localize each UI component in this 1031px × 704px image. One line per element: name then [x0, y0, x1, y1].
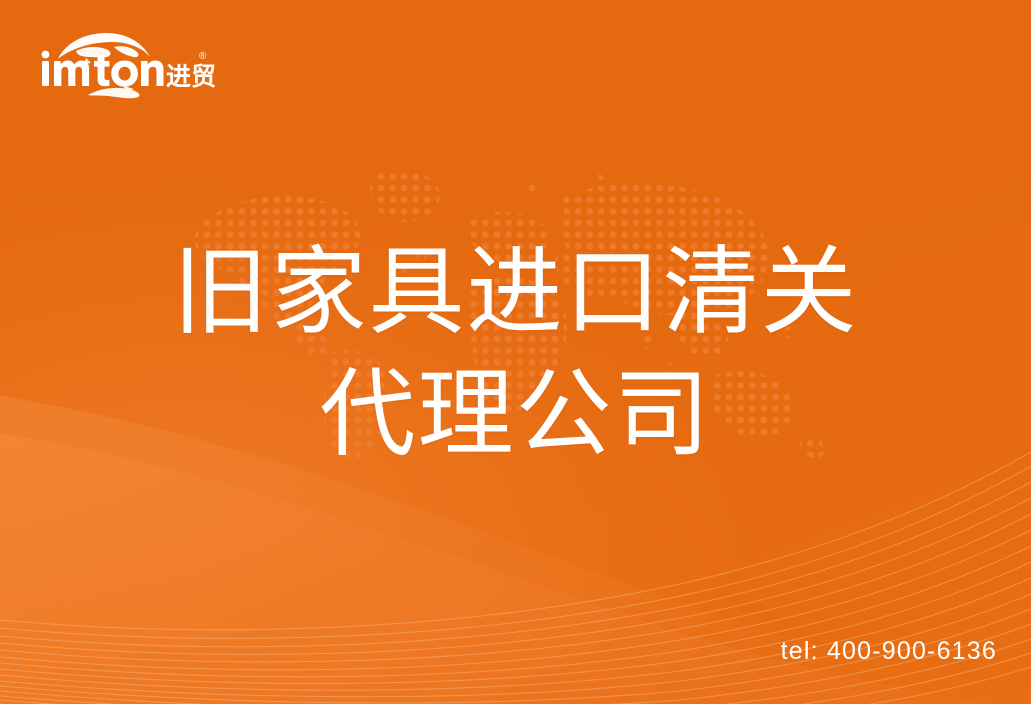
contact-phone[interactable]: tel: 400-900-6136: [781, 637, 997, 666]
page-title: 旧家具进口清关 代理公司: [0, 232, 1031, 476]
logo-chinese-name: 进贸通: [166, 62, 216, 91]
headline-line-2: 代理公司: [0, 354, 1031, 476]
promo-banner: 进贸通 ® 旧家具进口清关 代理公司 tel: 400-900-6136: [0, 0, 1031, 704]
company-logo[interactable]: 进贸通 ®: [36, 29, 216, 101]
svg-text:®: ®: [199, 51, 207, 62]
logo-trademark-icon: ®: [199, 51, 207, 62]
svg-text:进贸通: 进贸通: [166, 62, 216, 91]
headline-line-1: 旧家具进口清关: [0, 232, 1031, 354]
